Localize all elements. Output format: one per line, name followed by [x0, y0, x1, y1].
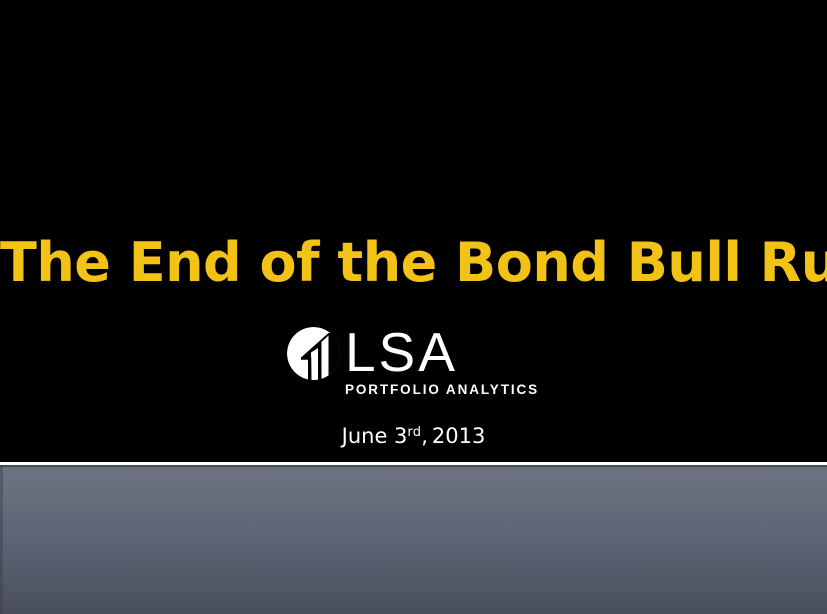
slide-date-monthday: June 3: [342, 424, 408, 448]
slide-date-separator: ,: [421, 424, 428, 448]
slide-canvas[interactable]: The End of the Bond Bull Run: [0, 0, 827, 462]
lsa-logo-text: LSA PORTFOLIO ANALYTICS: [345, 326, 540, 398]
slide-date-year: 2013: [432, 424, 485, 448]
lsa-tagline: PORTFOLIO ANALYTICS: [345, 381, 540, 398]
slide-title: The End of the Bond Bull Run: [0, 232, 827, 294]
slide-date-ordinal: rd: [407, 425, 421, 440]
lsa-logo: LSA PORTFOLIO ANALYTICS: [0, 326, 827, 392]
presentation-viewer: The End of the Bond Bull Run: [0, 0, 827, 614]
slide-date: June 3rd,2013: [0, 419, 827, 450]
lsa-wordmark: LSA: [345, 326, 540, 378]
lower-background-panel: [0, 465, 827, 614]
lsa-circle-bars-logo-icon: [287, 327, 340, 380]
